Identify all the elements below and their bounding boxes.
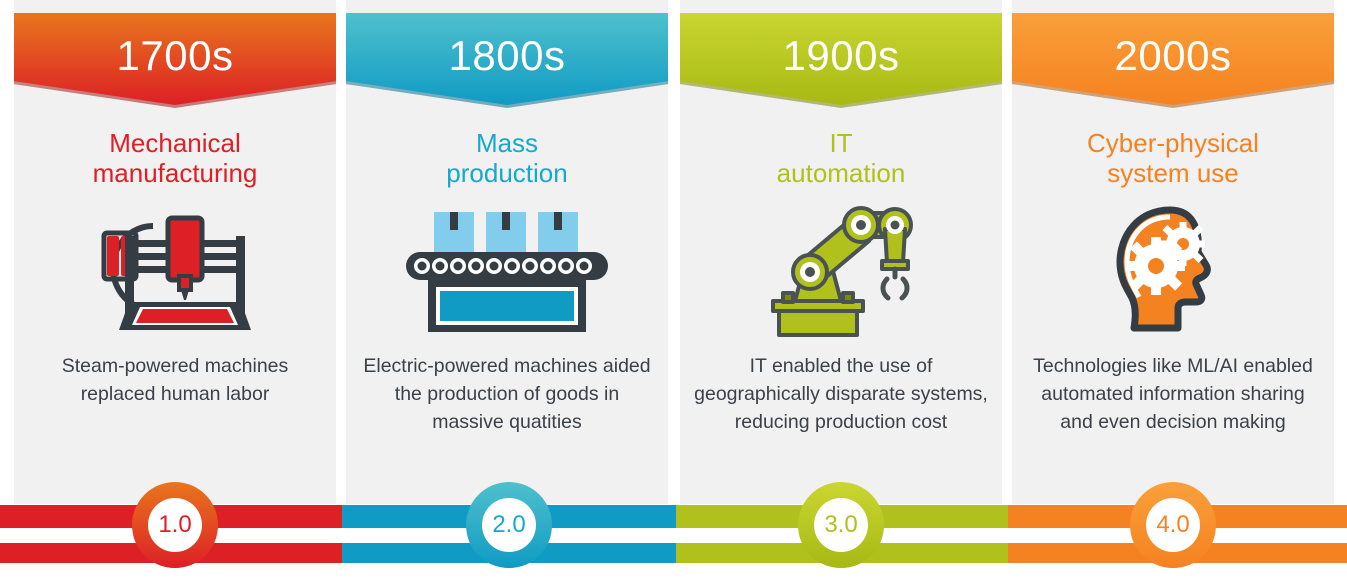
stage-subtitle-4-line1: Cyber-physical [1020, 128, 1326, 158]
stage-subtitle-4: Cyber-physical system use [1020, 128, 1326, 188]
stage-subtitle-1-line2: manufacturing [22, 158, 328, 188]
stage-column-1900s[interactable]: 1900s IT automation [680, 0, 1002, 504]
era-label-3: 1900s [783, 13, 900, 77]
era-label-1: 1700s [117, 13, 234, 77]
stage-subtitle-2-line2: production [354, 158, 660, 188]
milestone-ring-1[interactable]: 1.0 [132, 482, 218, 568]
milestone-label-2: 2.0 [492, 513, 525, 537]
conveyor-belt-icon [346, 200, 668, 340]
era-label-4: 2000s [1115, 13, 1232, 77]
stage-subtitle-1: Mechanical manufacturing [22, 128, 328, 188]
milestone-label-wrap-3: 3.0 [814, 498, 868, 552]
milestone-label-wrap-4: 4.0 [1146, 498, 1200, 552]
milestone-label-wrap-2: 2.0 [482, 498, 536, 552]
stage-description-4: Technologies like ML/AI enabled automate… [1026, 352, 1320, 436]
stage-column-2000s[interactable]: 2000s Cyber-physical system use [1012, 0, 1334, 504]
stage-subtitle-4-line2: system use [1020, 158, 1326, 188]
stage-column-1800s[interactable]: 1800s Mass production [346, 0, 668, 504]
cnc-3d-printer-icon [14, 200, 336, 340]
milestone-ring-2[interactable]: 2.0 [466, 482, 552, 568]
head-with-gears-icon [1012, 200, 1334, 340]
milestone-label-1: 1.0 [158, 513, 191, 537]
stage-subtitle-3-line1: IT [688, 128, 994, 158]
robotic-arm-icon [680, 200, 1002, 340]
stage-column-1700s[interactable]: 1700s Mechanical manufacturing [14, 0, 336, 504]
milestone-label-3: 3.0 [824, 513, 857, 537]
era-label-2: 1800s [449, 13, 566, 77]
milestone-label-4: 4.0 [1156, 513, 1189, 537]
stage-subtitle-1-line1: Mechanical [22, 128, 328, 158]
stage-subtitle-3-line2: automation [688, 158, 994, 188]
milestone-label-wrap-1: 1.0 [148, 498, 202, 552]
milestone-ring-3[interactable]: 3.0 [798, 482, 884, 568]
stage-subtitle-2-line1: Mass [354, 128, 660, 158]
milestone-ring-4[interactable]: 4.0 [1130, 482, 1216, 568]
infographic-canvas: 1700s Mechanical manufacturing [0, 0, 1347, 588]
stage-description-3: IT enabled the use of geographically dis… [694, 352, 988, 436]
stage-subtitle-2: Mass production [354, 128, 660, 188]
stage-subtitle-3: IT automation [688, 128, 994, 188]
stage-description-1: Steam-powered machines replaced human la… [28, 352, 322, 408]
stage-description-2: Electric-powered machines aided the prod… [360, 352, 654, 436]
